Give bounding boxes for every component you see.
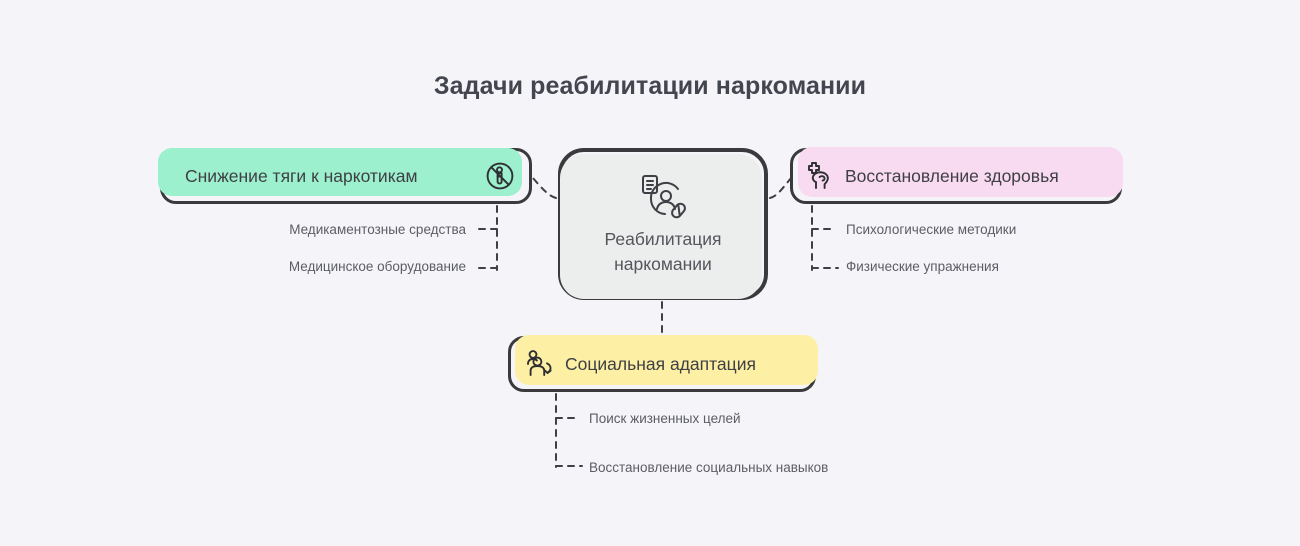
- connector-center-green: [532, 177, 556, 198]
- central-node[interactable]: Реабилитация наркомании: [558, 148, 768, 300]
- branch-node-pink-label: Восстановление здоровья: [845, 166, 1059, 187]
- connector-center-pink: [770, 177, 792, 198]
- leaf-label-pink-1: Психологические методики: [846, 222, 1016, 237]
- branch-node-pink[interactable]: Восстановление здоровья: [790, 148, 1122, 204]
- branch-node-green-label: Снижение тяги к наркотикам: [185, 166, 418, 187]
- branch-node-yellow[interactable]: Социальная адаптация: [508, 336, 816, 392]
- leaf-label-green-2: Медицинское оборудование: [289, 259, 466, 274]
- patient-document-pill-icon: [638, 173, 688, 219]
- leaf-label-yellow-1: Поиск жизненных целей: [589, 411, 741, 426]
- page-title: Задачи реабилитации наркомании: [0, 72, 1300, 101]
- people-group-arrow-icon: [523, 348, 557, 380]
- branch-node-yellow-label: Социальная адаптация: [565, 354, 756, 375]
- brain-health-cross-icon: [805, 160, 837, 192]
- leaf-label-yellow-2: Восстановление социальных навыков: [589, 460, 828, 475]
- leaf-label-pink-2: Физические упражнения: [846, 259, 999, 274]
- central-node-label-line2: наркомании: [605, 252, 722, 277]
- central-node-label: Реабилитация наркомании: [605, 227, 722, 277]
- branch-node-green[interactable]: Снижение тяги к наркотикам: [160, 148, 532, 204]
- central-node-label-line1: Реабилитация: [605, 227, 722, 252]
- diagram-canvas: Задачи реабилитации наркомании: [0, 0, 1300, 546]
- no-drugs-icon: [485, 161, 515, 191]
- leaf-label-green-1: Медикаментозные средства: [289, 222, 466, 237]
